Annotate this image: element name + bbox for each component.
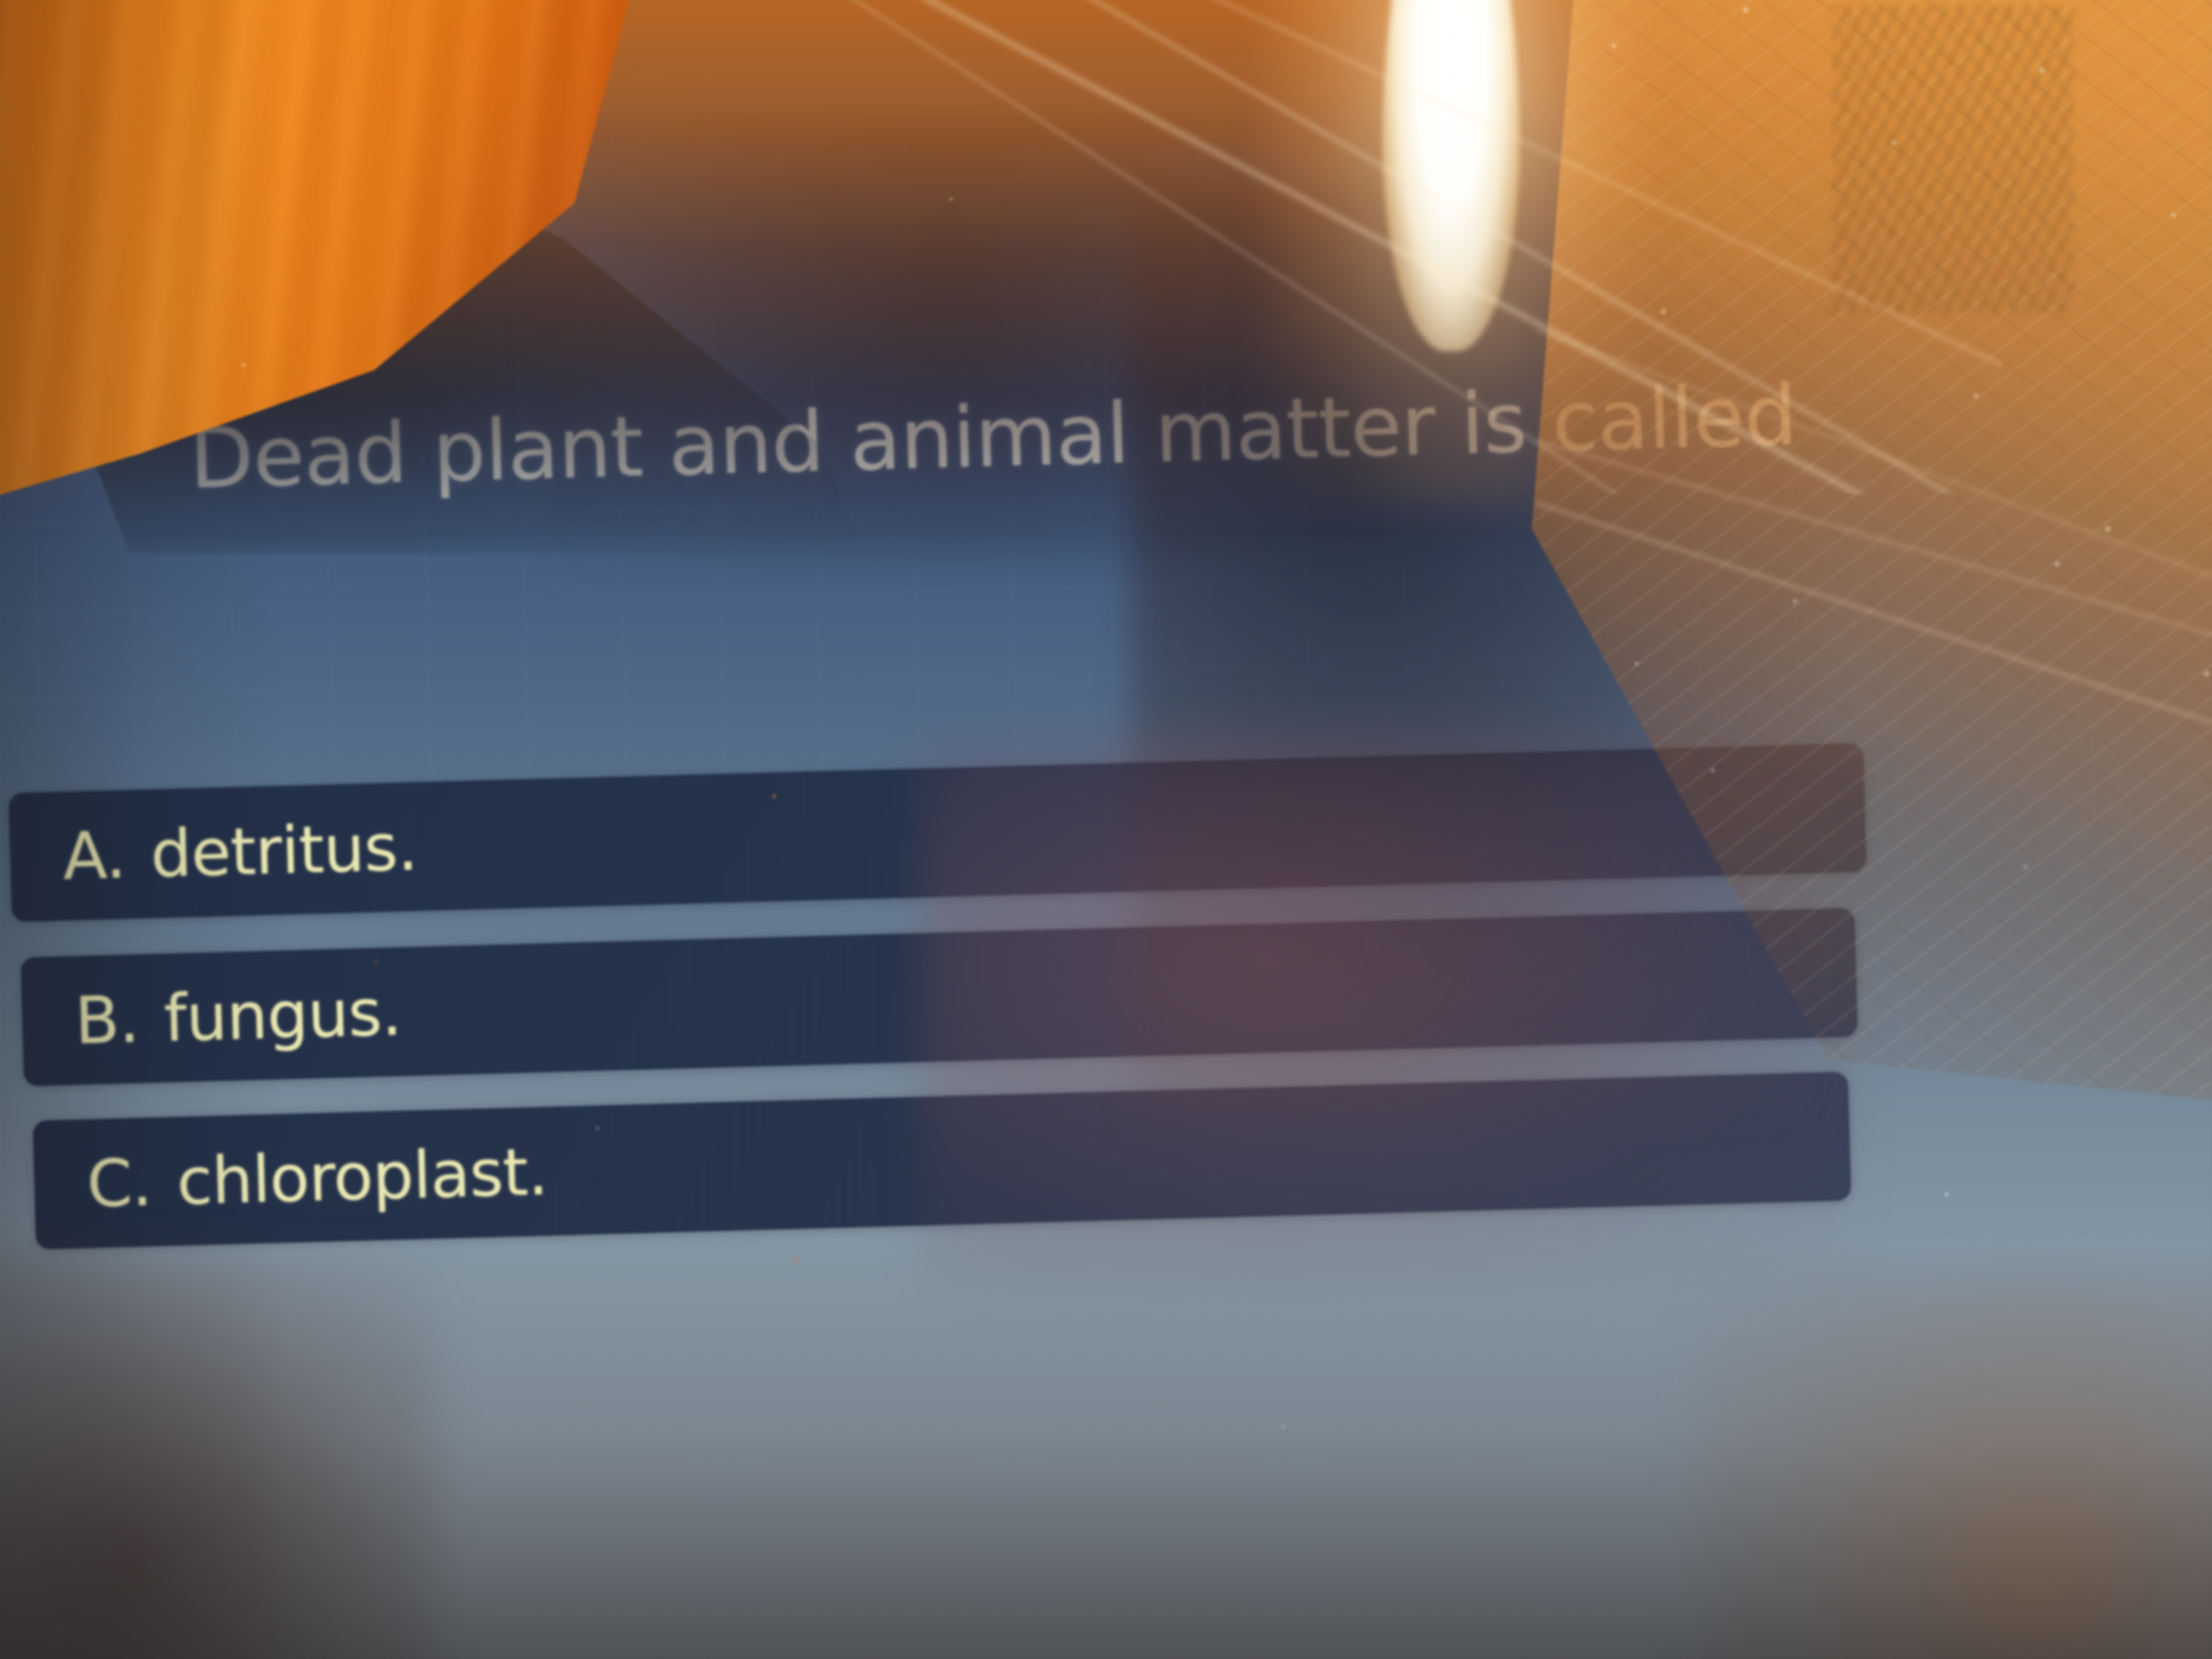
option-b-label: fungus. [163,974,402,1056]
option-c-label: chloroplast. [176,1133,549,1219]
option-b[interactable]: B. fungus. [20,908,1858,1086]
option-a[interactable]: A. detritus. [8,743,1866,922]
option-a-label: detritus. [150,809,419,891]
option-a-letter: A. [62,817,127,894]
screen-surface: Dead plant and animal matter is called A… [0,0,2212,1659]
option-c-letter: C. [86,1144,153,1222]
photo-of-screen: Dead plant and animal matter is called A… [0,0,2212,1659]
question-text: Dead plant and animal matter is called [65,359,1921,516]
option-c[interactable]: C. chloroplast. [32,1071,1851,1249]
option-b-letter: B. [74,981,140,1058]
